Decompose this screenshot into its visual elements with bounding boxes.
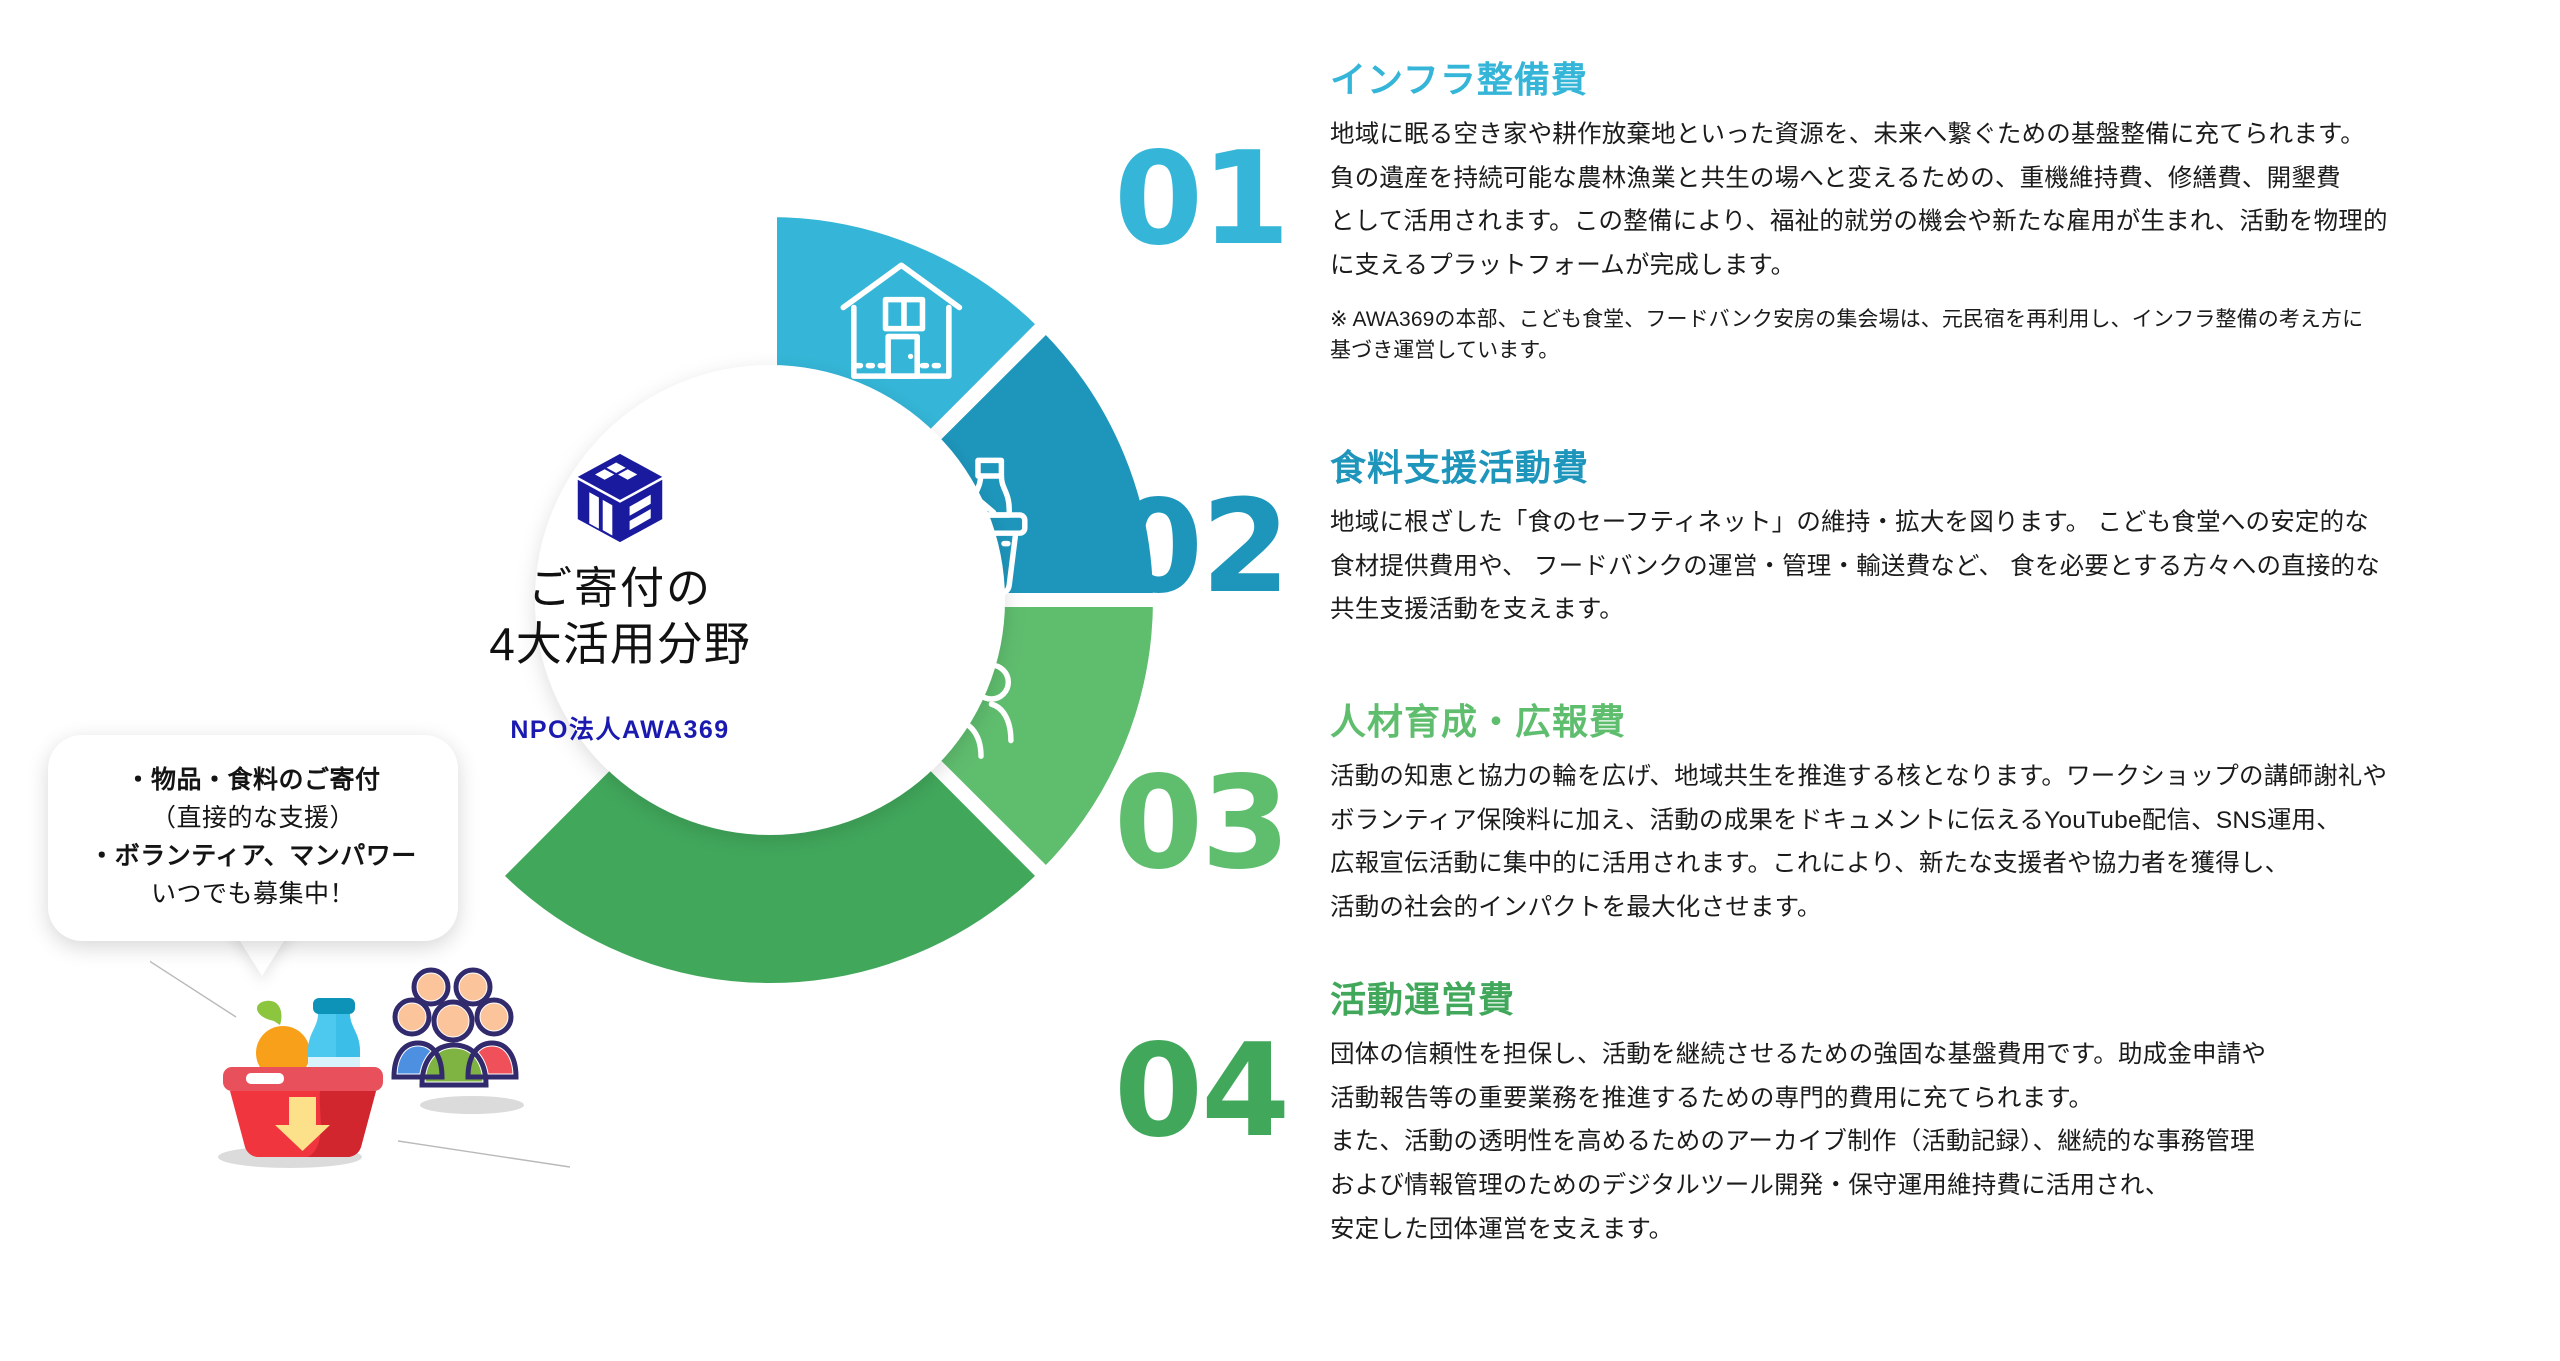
bottle-cap-icon [313,998,355,1014]
section-03-line-2: ボランティア保険料に加え、活動の成果をドキュメントに伝えるYouTube配信、S… [1330,799,2560,843]
volunteer-group-illustration [394,970,516,1085]
section-01-number: 01 [1114,136,1288,264]
section-03-line-1: 活動の知恵と協力の輪を広げ、地域共生を推進する核となります。ワークショップの講師… [1330,755,2560,799]
section-04-title: 活動運営費 [1330,978,2560,1021]
section-03-line-4: 活動の社会的インパクトを最大化させます。 [1330,886,2560,930]
donation-basket-illustration [223,998,383,1157]
connector-line-top [150,955,236,1017]
section-02-body: 食料支援活動費 地域に根ざした「食のセーフティネット」の維持・拡大を図ります。 … [1330,446,2560,632]
section-03-body: 人材育成・広報費 活動の知恵と協力の輪を広げ、地域共生を推進する核となります。ワ… [1330,700,2560,930]
section-04-line-4: および情報管理のためのデジタルツール開発・保守運用維持費に活用され、 [1330,1164,2560,1208]
section-04-line-2: 活動報告等の重要業務を推進するための専門的費用に充てられます。 [1330,1077,2560,1121]
bubble-line-4: いつでも募集中！ [66,875,440,913]
infographic-page: ご寄付の 4大活用分野 NPO法人AWA369 ・物品・食料のご寄付 （直接的な… [0,0,2560,1361]
speech-bubble: ・物品・食料のご寄付 （直接的な支援） ・ボランティア、マンパワー いつでも募集… [48,735,458,941]
section-02-line-1: 地域に根ざした「食のセーフティネット」の維持・拡大を図ります。 こども食堂への安… [1330,501,2560,545]
section-02-line-2: 食材提供費用や、 フードバンクの運営・管理・輸送費など、 食を必要とする方々への… [1330,545,2560,589]
leaf-icon [257,1001,281,1025]
section-03-line-3: 広報宣伝活動に集中的に活用されます。これにより、新たな支援者や協力者を獲得し、 [1330,842,2560,886]
section-01-body: インフラ整備費 地域に眠る空き家や耕作放棄地といった資源を、未来へ繋ぐための基盤… [1330,58,2560,367]
bubble-line-3: ・ボランティア、マンパワー [66,837,440,875]
section-01-line-3: として活用されます。この整備により、福祉的就労の機会や新たな雇用が生まれ、活動を… [1330,200,2560,244]
section-01-title: インフラ整備費 [1330,58,2560,101]
section-01-line-1: 地域に眠る空き家や耕作放棄地といった資源を、未来へ繋ぐための基盤整備に充てられま… [1330,113,2560,157]
sections-list: 01 インフラ整備費 地域に眠る空き家や耕作放棄地といった資源を、未来へ繋ぐため… [1100,0,2560,1361]
section-04-number: 04 [1114,1028,1288,1156]
section-01-line-2: 負の遺産を持続可能な農林漁業と共生の場へと変えるための、重機維持費、修繕費、開墾… [1330,157,2560,201]
section-01-note-line-2: 基づき運営しています。 [1330,335,2560,367]
donut-diagram-area: ご寄付の 4大活用分野 NPO法人AWA369 ・物品・食料のご寄付 （直接的な… [0,0,1280,1361]
section-01-note: ※ AWA369の本部、こども食堂、フードバンク安房の集会場は、元民宿を再利用し… [1330,304,2560,367]
section-01-note-line-1: ※ AWA369の本部、こども食堂、フードバンク安房の集会場は、元民宿を再利用し… [1330,304,2560,336]
bubble-line-2: （直接的な支援） [66,799,440,837]
section-03-number: 03 [1114,760,1288,888]
section-03-title: 人材育成・広報費 [1330,700,2560,743]
basket-handle-highlight [246,1073,284,1084]
section-02-title: 食料支援活動費 [1330,446,2560,489]
section-04-line-1: 団体の信頼性を担保し、活動を継続させるための強固な基盤費用です。助成金申請や [1330,1033,2560,1077]
connector-line-bottom [398,1141,570,1167]
section-02-number: 02 [1114,484,1288,612]
section-01-line-4: に支えるプラットフォームが完成します。 [1330,244,2560,288]
section-02-line-3: 共生支援活動を支えます。 [1330,588,2560,632]
section-04-body: 活動運営費 団体の信頼性を担保し、活動を継続させるための強固な基盤費用です。助成… [1330,978,2560,1251]
section-04-line-3: また、活動の透明性を高めるためのアーカイブ制作（活動記録）、継続的な事務管理 [1330,1120,2560,1164]
donation-illustration [150,945,570,1175]
section-04-line-5: 安定した団体運営を支えます。 [1330,1208,2560,1252]
people-shadow [420,1096,524,1114]
bubble-line-1: ・物品・食料のご寄付 [66,761,440,799]
